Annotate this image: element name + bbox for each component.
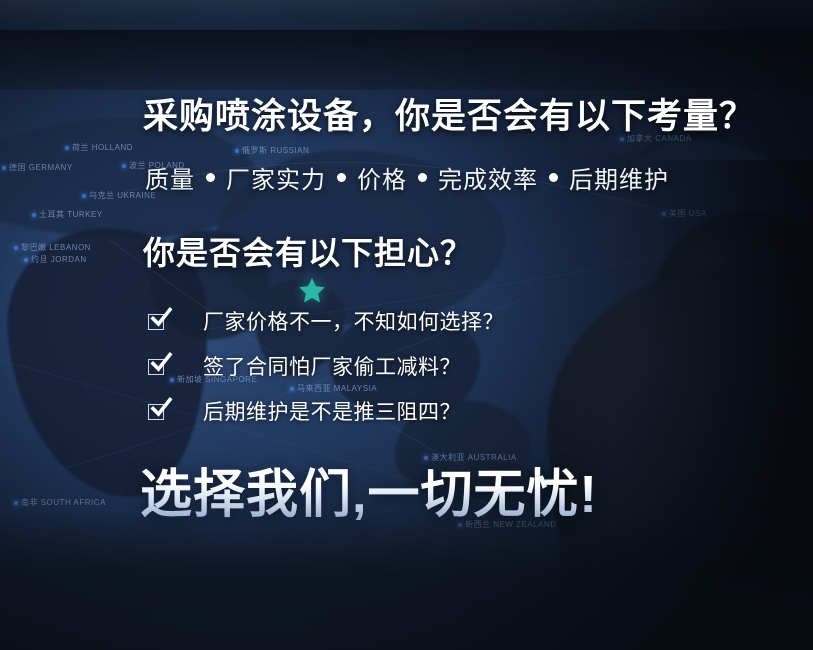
feature-separator-dot <box>337 173 346 182</box>
feature-item: 厂家实力 <box>226 160 326 195</box>
banner-headline-secondary: 你是否会有以下担心？ <box>143 228 473 274</box>
checklist-item-label: 后期维护是不是推三阻四？ <box>203 396 461 426</box>
banner-feature-list: 质量厂家实力价格完成效率后期维护 <box>145 160 669 195</box>
checkbox-checked-icon <box>148 402 167 421</box>
checklist-item: 厂家价格不一，不知如何选择？ <box>148 302 504 340</box>
checklist-item: 签了合同怕厂家偷工减料？ <box>148 347 504 385</box>
feature-item: 完成效率 <box>438 160 538 195</box>
concern-checklist: 厂家价格不一，不知如何选择？签了合同怕厂家偷工减料？后期维护是不是推三阻四？ <box>148 302 504 437</box>
feature-item: 质量 <box>145 160 195 195</box>
feature-separator-dot <box>549 173 558 182</box>
feature-item: 价格 <box>357 160 407 195</box>
banner-tagline: 选择我们,一切无忧! <box>140 452 598 527</box>
promo-banner: 荷兰 HOLLAND德国 GERMANY波兰 POLAND乌克兰 UKRAINE… <box>0 0 813 650</box>
feature-separator-dot <box>418 173 427 182</box>
checklist-item-label: 签了合同怕厂家偷工减料？ <box>203 351 461 381</box>
checklist-item-label: 厂家价格不一，不知如何选择？ <box>203 306 504 336</box>
checkbox-checked-icon <box>148 312 167 331</box>
feature-item: 后期维护 <box>569 160 669 195</box>
checkbox-checked-icon <box>148 357 167 376</box>
feature-separator-dot <box>206 173 215 182</box>
banner-headline: 采购喷涂设备，你是否会有以下考量？ <box>143 88 755 139</box>
checklist-item: 后期维护是不是推三阻四？ <box>148 392 504 430</box>
banner-content: 采购喷涂设备，你是否会有以下考量？ 质量厂家实力价格完成效率后期维护 你是否会有… <box>0 0 813 650</box>
